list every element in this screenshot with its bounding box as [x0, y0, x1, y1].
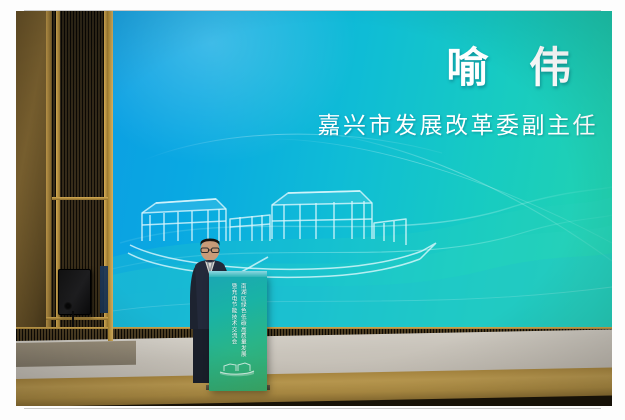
wall-rail-horizontal-lower	[46, 317, 110, 320]
wall-rail-horizontal-upper	[52, 197, 108, 200]
podium-text-block: 南湖区绿色低碳高质量发展 暨充电节能技术交流会	[209, 283, 267, 361]
screenshot-root: 喻 伟 嘉兴市发展改革委副主任	[0, 0, 625, 420]
stage-floor-shadow	[16, 341, 136, 367]
podium-boat-logo-icon	[218, 361, 258, 377]
screen-speaker-title: 嘉兴市发展改革委副主任	[318, 115, 599, 138]
pier-gold-edge	[46, 11, 51, 351]
photo-border-top	[0, 0, 625, 11]
photo-border-right	[612, 0, 625, 420]
screen-speaker-name: 喻 伟	[446, 47, 584, 89]
podium-text-line-1: 南湖区绿色低碳高质量发展	[240, 283, 246, 361]
screen-gold-frame	[108, 11, 113, 341]
stage-photograph: 喻 伟 嘉兴市发展改革委副主任	[16, 11, 612, 406]
podium-top-edge	[209, 271, 267, 277]
photo-border-bottom	[0, 406, 625, 420]
podium-panel: 南湖区绿色低碳高质量发展 暨充电节能技术交流会	[209, 275, 267, 391]
nanhu-red-boat-icon	[120, 179, 440, 297]
photo-border-left	[0, 0, 16, 420]
podium-text-line-2: 暨充电节能技术交流会	[230, 283, 236, 361]
pa-speaker-cabinet	[58, 269, 91, 315]
